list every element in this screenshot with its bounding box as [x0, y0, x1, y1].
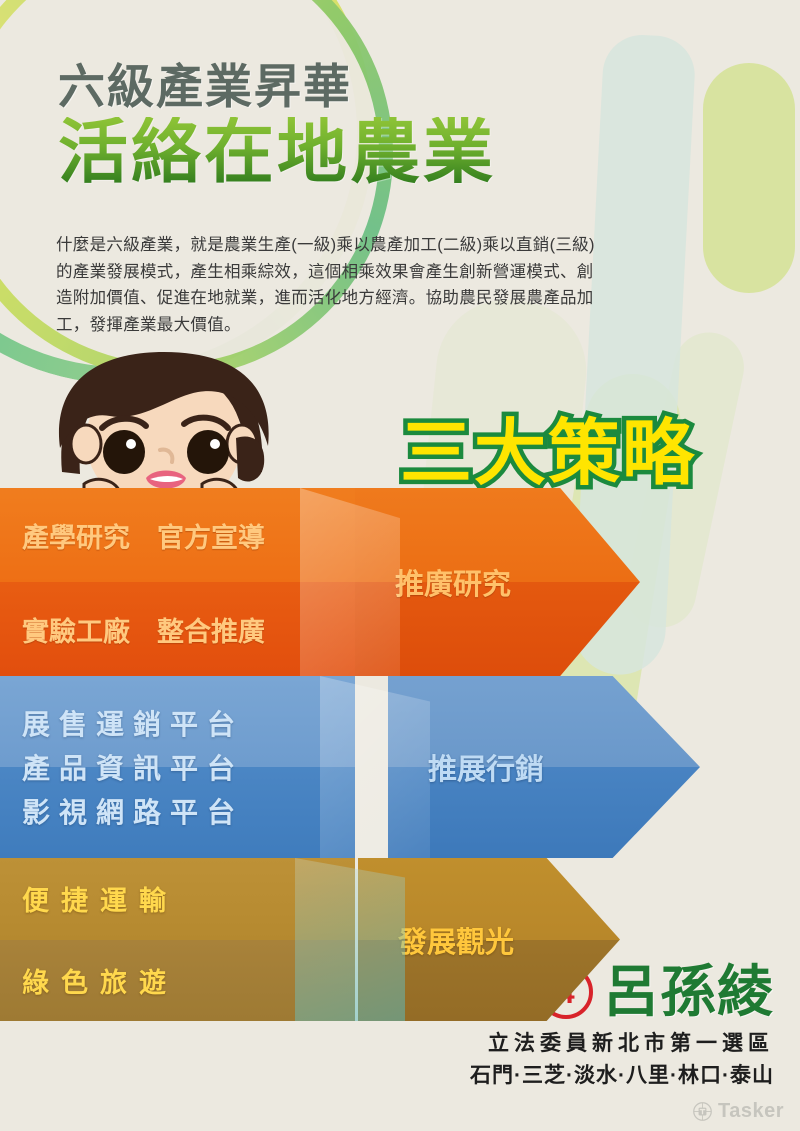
- body-paragraph: 什麼是六級產業，就是農業生產(一級)乘以農產加工(二級)乘以直銷(三級)的產業發…: [56, 232, 602, 339]
- band-line: 產品資訊平台: [0, 747, 355, 787]
- arrow-label-marketing: 推展行銷: [388, 746, 544, 788]
- band-line: 實驗工廠 整合推廣: [0, 610, 355, 649]
- strategy-band-marketing: 推展行銷 展售運銷平台 產品資訊平台 影視網路平台: [0, 676, 700, 858]
- campaign-poster: 六級產業昇華 活絡在地農業 什麼是六級產業，就是農業生產(一級)乘以農產加工(二…: [0, 0, 800, 1131]
- girl-ear-left: [71, 425, 101, 463]
- tasker-logo-icon: [692, 1101, 713, 1122]
- arrow-label-research: 推廣研究: [355, 561, 511, 603]
- band-items-tourism: 便捷運輸 綠色旅遊: [0, 858, 355, 1021]
- band-line: 展售運銷平台: [0, 703, 355, 743]
- candidate-districts: 石門·三芝·淡水·八里·林口·泰山: [470, 1059, 774, 1089]
- band-items-research: 產學研究 官方宣導 實驗工廠 整合推廣: [0, 488, 355, 676]
- band-line: 便捷運輸: [0, 879, 355, 918]
- arrow-marketing: 推展行銷: [388, 676, 700, 858]
- strategy-band-research: 推廣研究 產學研究 官方宣導 實驗工廠 整合推廣: [0, 488, 640, 676]
- watermark-label: Tasker: [718, 1100, 784, 1123]
- girl-eye-highlight-right: [210, 439, 220, 449]
- girl-eye-highlight-left: [126, 439, 136, 449]
- girl-eye-left: [103, 430, 145, 474]
- headline-subtitle: 六級產業昇華: [58, 62, 496, 111]
- candidate-office: 立法委員新北市第一選區: [470, 1027, 774, 1057]
- headline-main: 活絡在地農業: [58, 117, 496, 187]
- headline-block: 六級產業昇華 活絡在地農業: [58, 62, 496, 187]
- band-line: 綠色旅遊: [0, 961, 355, 1000]
- band-line: 影視網路平台: [0, 791, 355, 831]
- band-line: 產學研究 官方宣導: [0, 516, 355, 555]
- strategy-band-tourism: 發展觀光 便捷運輸 綠色旅遊: [0, 858, 620, 1021]
- arrow-label-tourism: 發展觀光: [358, 919, 514, 961]
- arrow-research: 推廣研究: [355, 488, 640, 676]
- cartoon-girl-illustration: [50, 352, 280, 502]
- girl-eye-right: [187, 430, 229, 474]
- band-items-marketing: 展售運銷平台 產品資訊平台 影視網路平台: [0, 676, 355, 858]
- watermark: Tasker: [692, 1100, 784, 1123]
- bg-stripe-green: [703, 63, 795, 293]
- arrow-tourism: 發展觀光: [358, 858, 620, 1021]
- strategy-title: 三大策略: [400, 418, 696, 490]
- candidate-name: 呂孫綾: [603, 964, 774, 1020]
